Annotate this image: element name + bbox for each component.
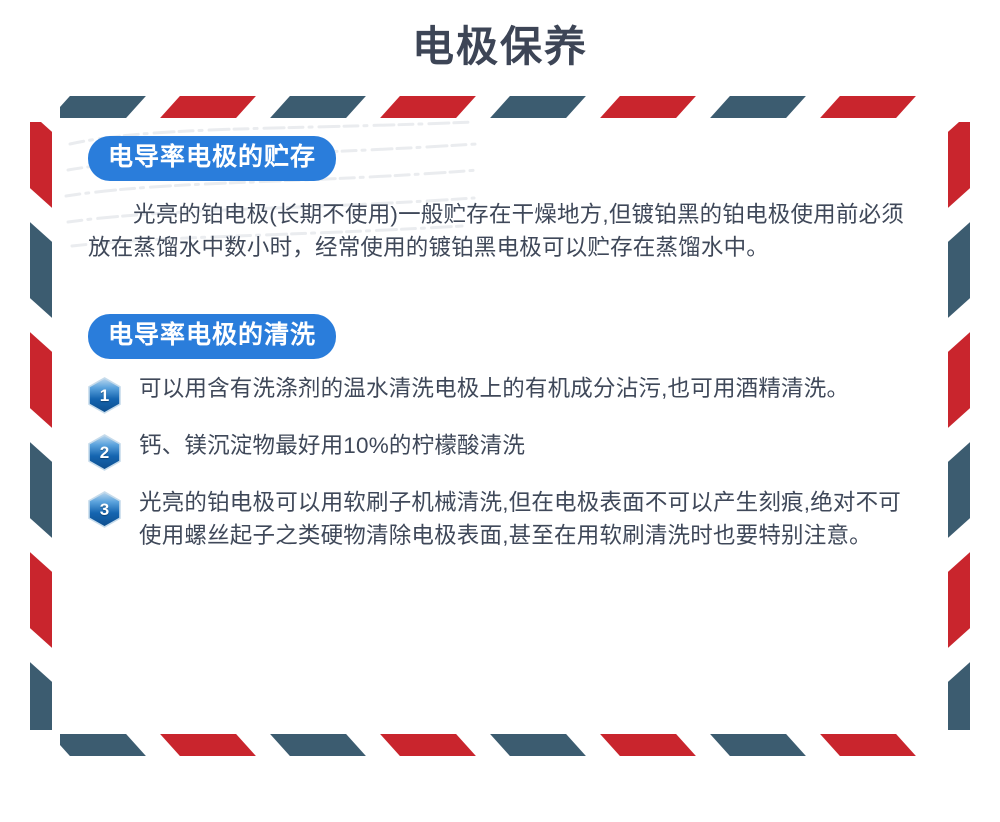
border-stripes-top xyxy=(60,96,940,118)
cleaning-steps-list: 1 可以用含有洗涤剂的温水清洗电极上的有机成分沾污,也可用酒精清洗。 2 钙、镁… xyxy=(88,373,920,552)
step-text: 光亮的铂电极可以用软刷子机械清洗,但在电极表面不可以产生刻痕,绝对不可使用螺丝起… xyxy=(139,487,920,552)
stripe-segment xyxy=(30,552,52,648)
section-heading-storage: 电导率电极的贮存 xyxy=(88,136,336,181)
envelope-frame: 电导率电极的贮存 光亮的铂电极(长期不使用)一般贮存在干燥地方,但镀铂黑的铂电极… xyxy=(30,96,970,756)
step-number: 2 xyxy=(88,434,121,471)
stripe-segment xyxy=(30,122,52,208)
border-stripes-bottom xyxy=(60,734,940,756)
stripe-segment xyxy=(948,662,970,730)
list-item: 3 光亮的铂电极可以用软刷子机械清洗,但在电极表面不可以产生刻痕,绝对不可使用螺… xyxy=(88,487,920,552)
stripe-segment xyxy=(30,332,52,428)
stripe-segment xyxy=(948,552,970,648)
stripe-segment xyxy=(490,96,586,118)
border-stripes-right xyxy=(948,122,970,730)
step-text: 可以用含有洗涤剂的温水清洗电极上的有机成分沾污,也可用酒精清洗。 xyxy=(139,373,849,406)
stripe-segment xyxy=(600,734,696,756)
stripe-segment xyxy=(60,96,146,118)
page-title: 电极保养 xyxy=(0,0,1000,58)
step-text: 钙、镁沉淀物最好用10%的柠檬酸清洗 xyxy=(139,430,525,463)
stripe-segment xyxy=(60,734,146,756)
section-spacer xyxy=(88,268,920,314)
stripe-segment xyxy=(30,222,52,318)
content-area: 电导率电极的贮存 光亮的铂电极(长期不使用)一般贮存在干燥地方,但镀铂黑的铂电极… xyxy=(88,136,920,716)
stripe-segment xyxy=(948,122,970,208)
stripe-segment xyxy=(380,96,476,118)
stripe-segment xyxy=(30,442,52,538)
step-number: 1 xyxy=(88,377,121,414)
stripe-segment xyxy=(820,734,916,756)
stripe-segment xyxy=(490,734,586,756)
hexagon-number-badge-icon: 2 xyxy=(88,434,121,471)
stripe-segment xyxy=(710,734,806,756)
hexagon-number-badge-icon: 3 xyxy=(88,491,121,528)
section-storage-paragraph: 光亮的铂电极(长期不使用)一般贮存在干燥地方,但镀铂黑的铂电极使用前必须放在蒸馏… xyxy=(88,199,908,264)
stripe-segment xyxy=(710,96,806,118)
stripe-segment xyxy=(948,222,970,318)
stripe-segment xyxy=(380,734,476,756)
stripe-segment xyxy=(948,442,970,538)
section-cleaning: 电导率电极的清洗 xyxy=(88,314,920,552)
stripe-segment xyxy=(160,96,256,118)
border-stripes-left xyxy=(30,122,52,730)
hexagon-number-badge-icon: 1 xyxy=(88,377,121,414)
stripe-segment xyxy=(270,734,366,756)
stripe-segment xyxy=(160,734,256,756)
section-heading-cleaning: 电导率电极的清洗 xyxy=(88,314,336,359)
stripe-segment xyxy=(948,332,970,428)
section-storage: 电导率电极的贮存 光亮的铂电极(长期不使用)一般贮存在干燥地方,但镀铂黑的铂电极… xyxy=(88,136,920,264)
stripe-segment xyxy=(30,662,52,730)
list-item: 1 可以用含有洗涤剂的温水清洗电极上的有机成分沾污,也可用酒精清洗。 xyxy=(88,373,920,414)
stripe-segment xyxy=(270,96,366,118)
step-number: 3 xyxy=(88,491,121,528)
stripe-segment xyxy=(600,96,696,118)
stripe-segment xyxy=(820,96,916,118)
list-item: 2 钙、镁沉淀物最好用10%的柠檬酸清洗 xyxy=(88,430,920,471)
